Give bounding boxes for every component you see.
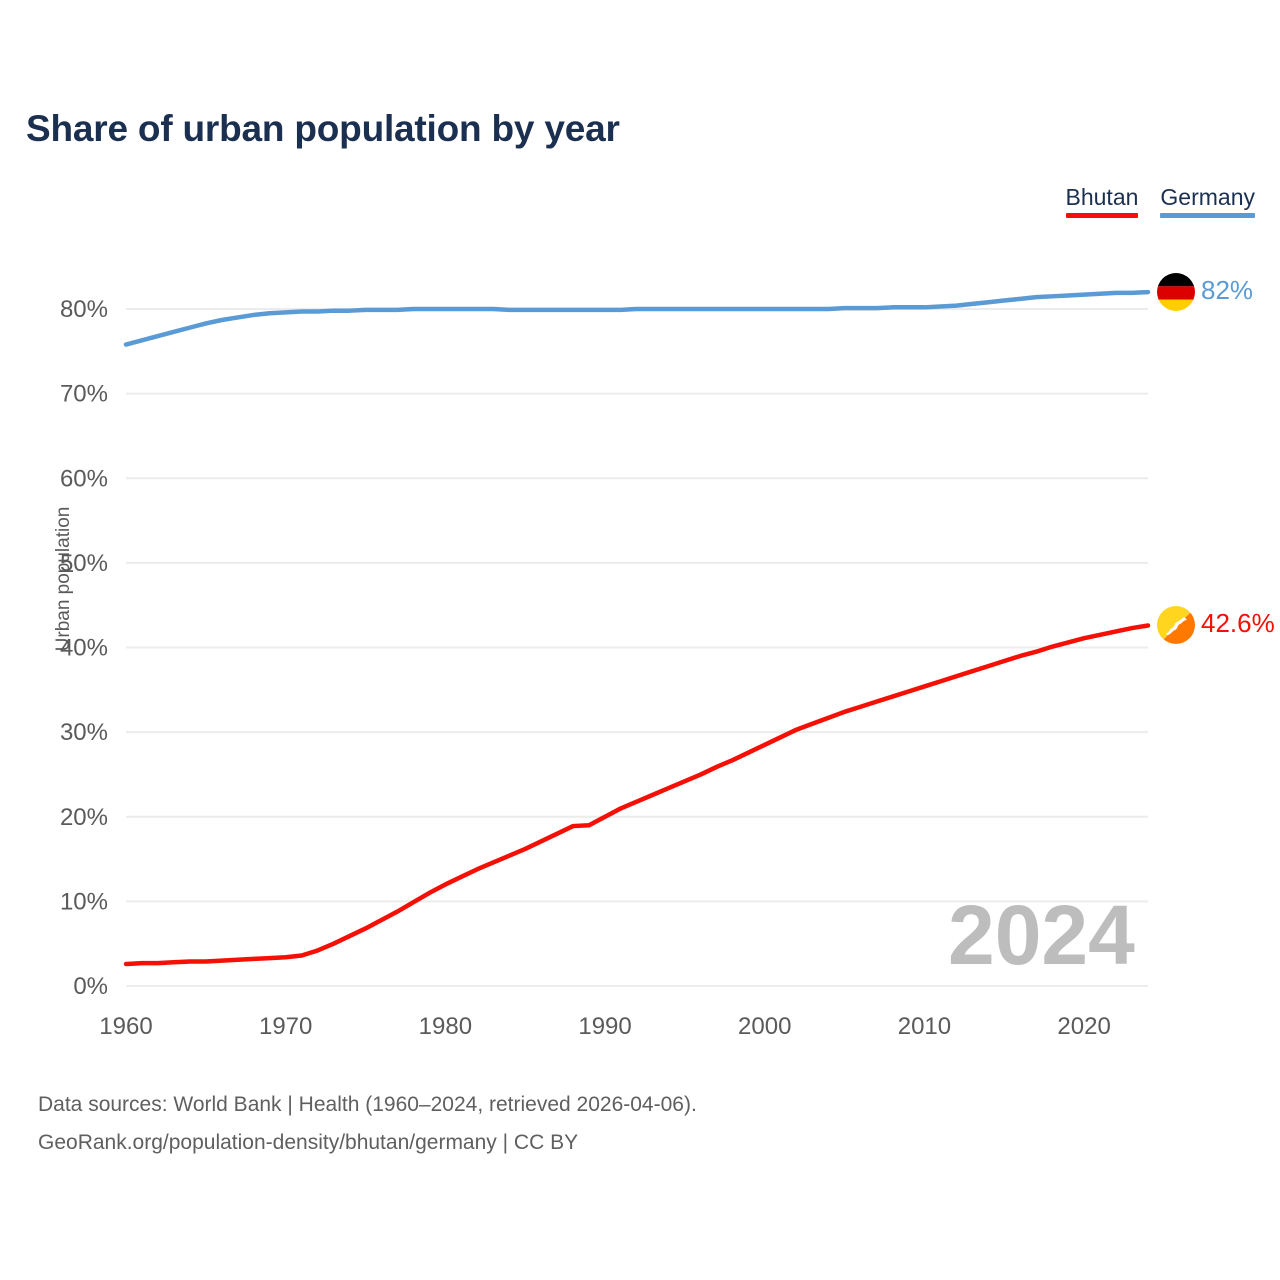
footer-line-1: Data sources: World Bank | Health (1960–… — [38, 1086, 697, 1124]
y-tick-label: 80% — [60, 296, 108, 323]
x-tick-label: 1980 — [419, 1013, 472, 1040]
line-chart-plot: 0%10%20%30%40%50%60%70%80%19601970198019… — [0, 0, 1280, 1060]
y-tick-label: 0% — [73, 973, 108, 1000]
series-line-germany — [126, 292, 1148, 344]
y-tick-label: 30% — [60, 719, 108, 746]
x-tick-label: 1990 — [578, 1013, 631, 1040]
y-tick-label: 70% — [60, 381, 108, 408]
end-label-bhutan: 42.6% — [1201, 608, 1275, 639]
end-label-germany: 82% — [1201, 275, 1253, 306]
y-tick-label: 40% — [60, 635, 108, 662]
y-tick-label: 10% — [60, 888, 108, 915]
y-tick-label: 50% — [60, 550, 108, 577]
series-line-bhutan — [126, 626, 1148, 965]
footer-line-2: GeoRank.org/population-density/bhutan/ge… — [38, 1124, 697, 1162]
y-tick-label: 60% — [60, 465, 108, 492]
x-tick-label: 2020 — [1057, 1013, 1110, 1040]
x-tick-label: 2010 — [898, 1013, 951, 1040]
footer-attribution: Data sources: World Bank | Health (1960–… — [38, 1086, 697, 1162]
x-tick-label: 2000 — [738, 1013, 791, 1040]
x-tick-label: 1970 — [259, 1013, 312, 1040]
chart-page: Share of urban population by year Bhutan… — [0, 0, 1280, 1280]
germany-flag-icon — [1156, 272, 1196, 312]
y-tick-label: 20% — [60, 804, 108, 831]
x-tick-label: 1960 — [99, 1013, 152, 1040]
